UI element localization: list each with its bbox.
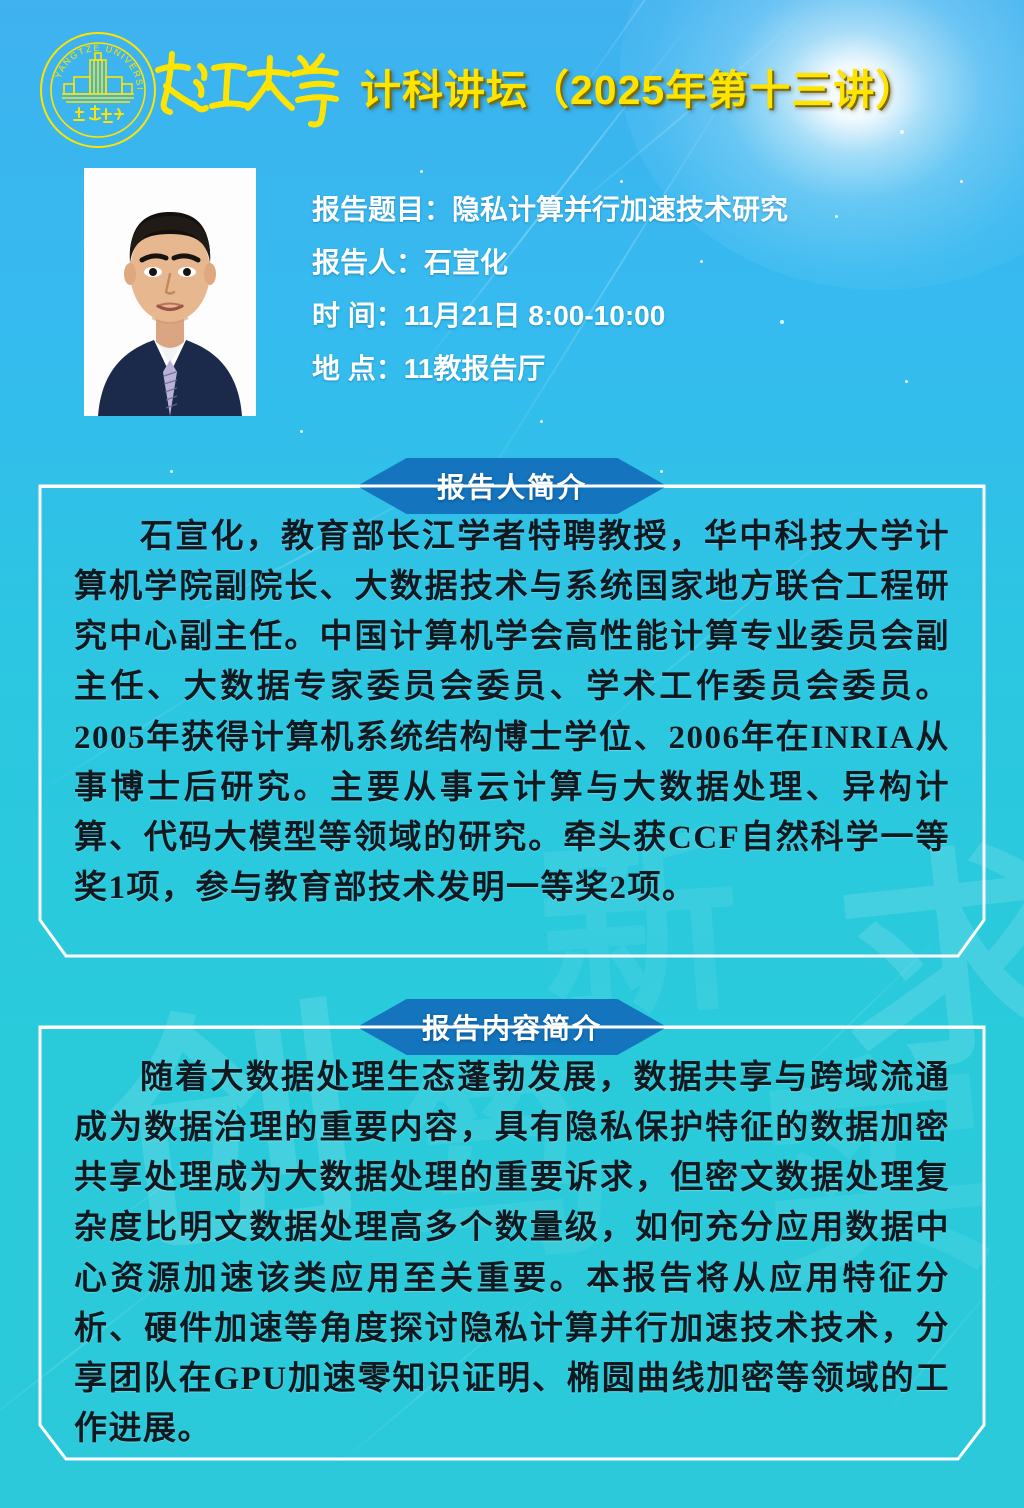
speaker-bio-text: 石宣化，教育部长江学者特聘教授，华中科技大学计算机学院副院长、大数据技术与系统国…: [74, 512, 950, 913]
poster-canvas: 求 新 创 笃 实 YANGTZE UNIVERSITY: [0, 0, 1024, 1508]
event-topic-line: 报告题目：隐私计算并行加速技术研究: [312, 196, 952, 224]
poster-header: YANGTZE UNIVERSITY: [0, 0, 1024, 160]
sparkle-decoration: [620, 180, 623, 183]
university-wordmark: [150, 42, 340, 132]
talk-abstract-frame: 随着大数据处理生态蓬勃发展，数据共享与跨域流通成为数据治理的重要内容，具有隐私保…: [40, 1027, 984, 1459]
sparkle-decoration: [300, 430, 303, 433]
sparkle-decoration: [960, 180, 963, 183]
speaker-bio-frame: 石宣化，教育部长江学者特聘教授，华中科技大学计算机学院副院长、大数据技术与系统国…: [40, 486, 984, 956]
speaker-photo: [84, 168, 256, 416]
speaker-portrait-illustration: [84, 168, 256, 416]
sparkle-decoration: [420, 170, 423, 173]
sparkle-decoration: [540, 420, 543, 423]
forum-title: 计科讲坛（2025年第十三讲）: [360, 56, 917, 116]
talk-abstract-text: 随着大数据处理生态蓬勃发展，数据共享与跨域流通成为数据治理的重要内容，具有隐私保…: [74, 1053, 950, 1454]
event-speaker-line: 报告人：石宣化: [312, 249, 952, 277]
event-info-block: 报告题目：隐私计算并行加速技术研究 报告人：石宣化 时 间：11月21日 8:0…: [312, 196, 952, 408]
event-place-line: 地 点：11教报告厅: [312, 355, 952, 383]
event-time-line: 时 间：11月21日 8:00-10:00: [312, 302, 952, 330]
university-seal-logo: YANGTZE UNIVERSITY: [38, 30, 158, 150]
